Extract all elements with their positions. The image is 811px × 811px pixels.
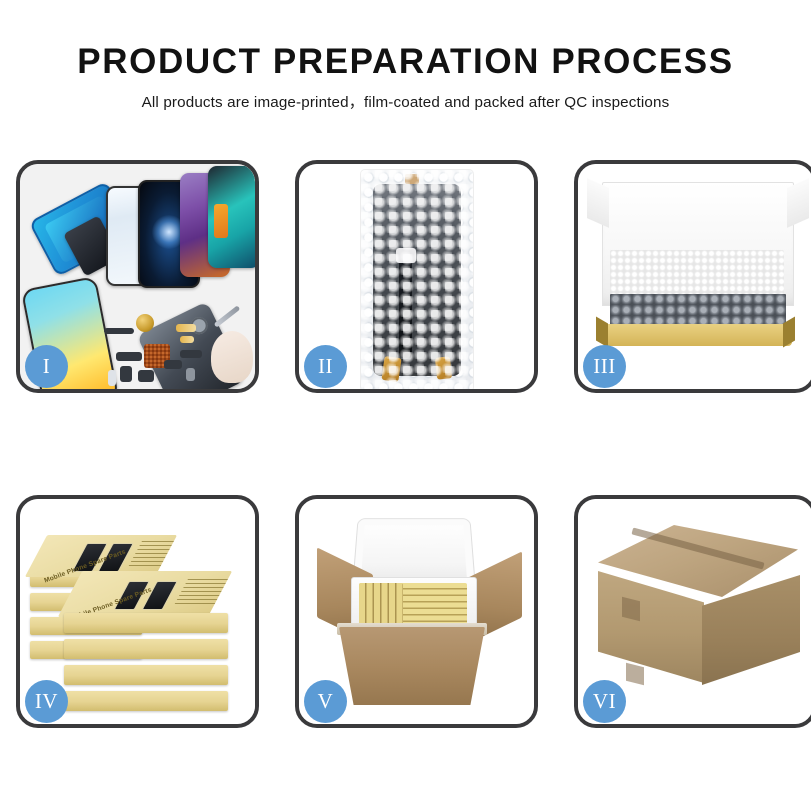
phone-teal-display <box>208 166 255 268</box>
box-front-edge-4 <box>64 691 228 711</box>
step-badge-4: IV <box>25 680 68 723</box>
part-earpiece <box>138 370 154 382</box>
box-front-edge-1 <box>64 613 228 633</box>
part-speaker-coil <box>136 314 154 332</box>
part-gold-clip <box>180 336 194 343</box>
part-gold-bracket <box>176 324 196 332</box>
carton-tape-patch-lower <box>626 663 644 685</box>
bubble-texture-overlay <box>361 170 473 389</box>
process-step-2[interactable]: II <box>295 160 538 393</box>
step-badge-1: I <box>25 345 68 388</box>
carton-tape-patch-upper <box>622 597 640 621</box>
box-front-edge-2 <box>64 639 228 659</box>
part-screwdriver-tool <box>214 305 241 327</box>
page-subtitle: All products are image-printed，film-coat… <box>0 90 811 112</box>
process-step-grid: I II III <box>16 160 798 728</box>
technician-hand <box>211 331 253 383</box>
mailer-box-front-panel <box>604 324 792 346</box>
part-battery-tab <box>186 368 195 381</box>
mailer-box-left-side <box>596 317 608 348</box>
mailer-foam-sheet <box>610 250 784 298</box>
process-step-5[interactable]: V <box>295 495 538 728</box>
box-print-textblock-a <box>128 541 177 567</box>
part-flex-cable-b <box>116 352 142 361</box>
box-front-edge-3 <box>64 665 228 685</box>
part-connector <box>164 360 182 369</box>
part-camera-module <box>120 366 132 382</box>
process-step-6[interactable]: VI <box>574 495 811 728</box>
part-sim-tray <box>108 370 116 386</box>
page-header: PRODUCT PREPARATION PROCESS All products… <box>0 0 811 112</box>
step-badge-2: II <box>304 345 347 388</box>
step-badge-6: VI <box>583 680 626 723</box>
process-step-1[interactable]: I <box>16 160 259 393</box>
step-badge-3: III <box>583 345 626 388</box>
carton-front-panel <box>339 627 485 705</box>
sealed-carton-left-face <box>598 571 704 683</box>
process-step-4[interactable]: Mobile Phone Spare Parts Mobile Phone Sp… <box>16 495 259 728</box>
mailer-box-right-side <box>783 317 795 348</box>
part-ribbon <box>180 350 202 358</box>
process-step-3[interactable]: III <box>574 160 811 393</box>
step-badge-5: V <box>304 680 347 723</box>
page-title: PRODUCT PREPARATION PROCESS <box>0 42 811 81</box>
part-flex-cable-a <box>104 328 134 334</box>
box-print-textblock-b <box>174 579 230 605</box>
bubble-wrap-pack <box>361 170 473 389</box>
